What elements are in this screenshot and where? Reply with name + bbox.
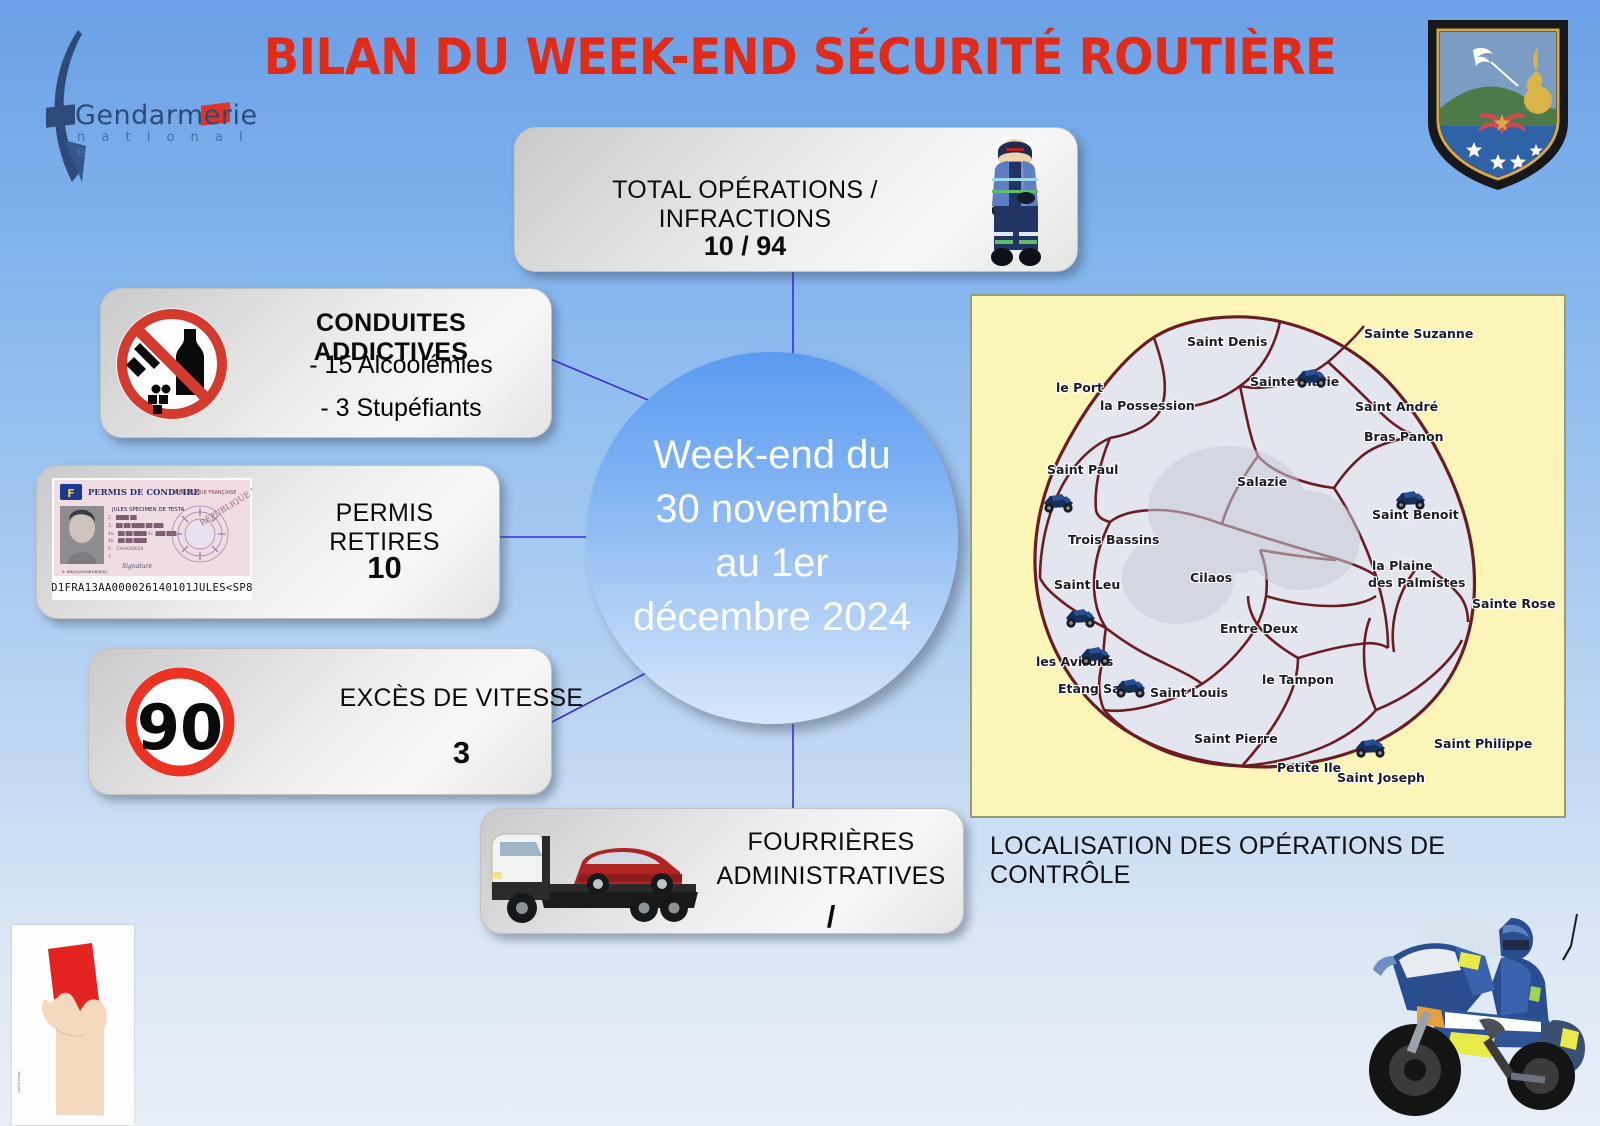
alcoolemies-line: - 15 Alcoolémies	[251, 351, 551, 380]
svg-text:carton rouge: carton rouge	[17, 1071, 21, 1093]
map-label-des-palmistes: des Palmistes	[1368, 575, 1465, 590]
map-label-saint-benoit: Saint Benoit	[1372, 507, 1459, 522]
map-label-saint-louis: Saint Louis	[1150, 685, 1228, 700]
licence-footer-fields: 9. AM/A1/A2/A/B1/B/D/D1	[62, 570, 108, 574]
licence-name: JULES SPECIMEN DE TESTA	[111, 507, 185, 513]
total-operations-label: TOTAL OPÉRATIONS / INFRACTIONS	[535, 176, 955, 234]
map-label-saint-leu: Saint Leu	[1054, 577, 1120, 592]
fourrieres-label-line2: ADMINISTRATIVES	[711, 859, 951, 893]
svg-text:4b.: 4b.	[108, 538, 115, 543]
map-label-bras-panon: Bras Panon	[1364, 429, 1444, 444]
map-label-cilaos: Cilaos	[1190, 570, 1232, 585]
exces-de-vitesse-label: EXCÈS DE VITESSE	[329, 684, 594, 713]
map-label-saint-philippe: Saint Philippe	[1434, 736, 1532, 751]
tow-truck-image	[484, 812, 714, 924]
map-label-le-tampon: le Tampon	[1262, 672, 1334, 687]
permis-retires-value: 10	[277, 550, 492, 586]
center-line-3: au 1er	[602, 536, 942, 590]
svg-text:2.: 2.	[108, 515, 112, 520]
total-operations-value: 10 / 94	[535, 231, 955, 262]
map-label-sainte-marie: Sainte Marie	[1250, 374, 1339, 389]
map-label-saint-andr-: Saint André	[1355, 399, 1438, 414]
licence-country: RÉPUBLIQUE FRANÇAISE	[175, 488, 236, 496]
exces-de-vitesse-value: 3	[329, 735, 594, 771]
map-label-petite-ile: Petite Ile	[1277, 760, 1341, 775]
map-label-trois-bassins: Trois Bassins	[1068, 532, 1159, 547]
svg-text:7.: 7.	[108, 554, 112, 559]
speed-limit-value: 90	[137, 691, 223, 764]
center-date-circle: Week-end du 30 novembre au 1er décembre …	[586, 352, 958, 724]
svg-text:5.: 5.	[108, 546, 112, 551]
center-date-text: Week-end du 30 novembre au 1er décembre …	[602, 428, 942, 644]
map-label-saint-paul: Saint Paul	[1047, 462, 1118, 477]
permis-retires-label: PERMIS RETIRES	[277, 499, 492, 557]
red-card-in-hand-image: carton rouge	[12, 925, 134, 1125]
speed-limit-sign-icon: 90	[122, 665, 238, 779]
map-label-la-plaine: la Plaine	[1372, 558, 1433, 573]
svg-text:13AA000026: 13AA000026	[116, 546, 143, 551]
licence-signature: Signature	[122, 563, 152, 570]
map-label-saint-joseph: Saint Joseph	[1337, 770, 1425, 785]
svg-text:4a.: 4a.	[108, 531, 115, 536]
map-label-entre-deux: Entre Deux	[1220, 621, 1298, 636]
center-line-2: 30 novembre	[602, 482, 942, 536]
map-label-sainte-rose: Sainte Rose	[1472, 596, 1556, 611]
fourrieres-value: /	[711, 899, 951, 935]
fourrieres-label-line1: FOURRIÈRES	[711, 825, 951, 859]
gendarme-motorcycle-image	[1335, 900, 1597, 1125]
map-caption: LOCALISATION DES OPÉRATIONS DE CONTRÔLE	[990, 832, 1590, 890]
licence-country-code: F	[67, 487, 75, 500]
center-line-4: décembre 2024	[602, 590, 942, 644]
no-alcohol-drugs-icon	[110, 305, 235, 423]
map-label-saint-pierre: Saint Pierre	[1194, 731, 1278, 746]
map-svg: Saint DenisSainte Suzannele Portla Posse…	[972, 296, 1560, 812]
map-label-sainte-suzanne: Sainte Suzanne	[1364, 326, 1473, 341]
gendarme-figure-icon	[968, 132, 1063, 272]
map-label-salazie: Salazie	[1237, 474, 1287, 489]
center-line-1: Week-end du	[602, 428, 942, 482]
svg-text:3.: 3.	[108, 523, 112, 528]
map-label-le-port: le Port	[1056, 380, 1103, 395]
fourrieres-label: FOURRIÈRES ADMINISTRATIVES	[711, 825, 951, 893]
licence-mrz: D1FRA13AA000026140101JULES<SP8	[52, 582, 252, 594]
map-label-la-possession: la Possession	[1100, 398, 1195, 413]
map-label-saint-denis: Saint Denis	[1187, 334, 1267, 349]
driving-licence-image: F PERMIS DE CONDUIRE RÉPUBLIQUE FRANÇAIS…	[52, 478, 252, 600]
stupefiants-line: - 3 Stupéfiants	[251, 394, 551, 423]
reunion-operations-map[interactable]: Saint DenisSainte Suzannele Portla Posse…	[970, 294, 1566, 818]
